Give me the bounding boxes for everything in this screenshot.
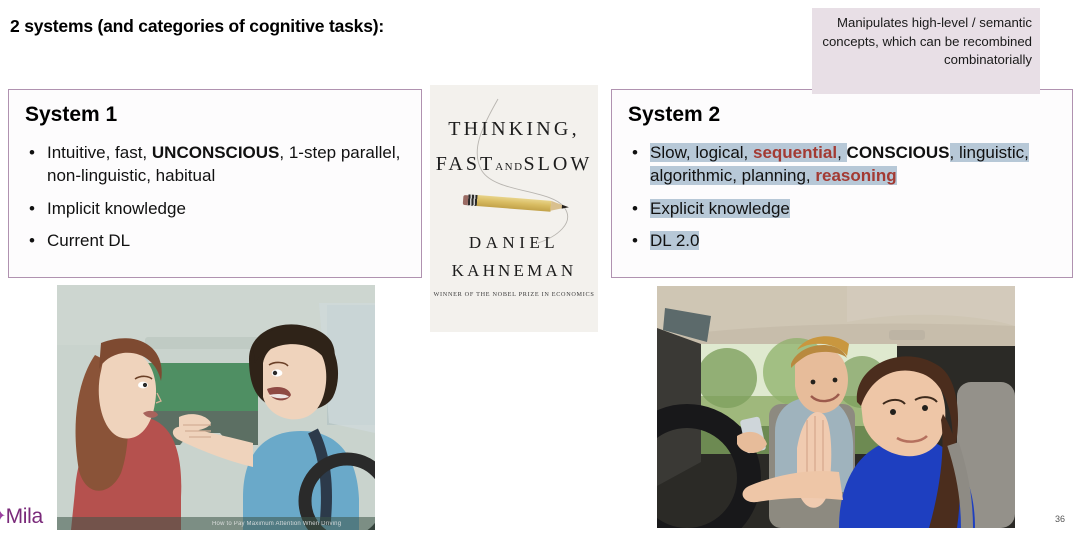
bullet-item: •Explicit knowledge	[628, 197, 1064, 220]
cartoon-caption: How to Pay Maximum Attention When Drivin…	[212, 521, 341, 527]
callout-note: Manipulates high-level / semantic concep…	[812, 8, 1040, 94]
book-cover-image: THINKING, FASTANDSLOW DANIEL KAHNEMAN WI…	[430, 85, 598, 332]
bullet-text-segment: Explicit knowledge	[650, 199, 790, 218]
bullet-marker: •	[632, 197, 638, 220]
system-2-bullet-list: •Slow, logical, sequential, CONSCIOUS, l…	[628, 141, 1064, 262]
bullet-text-segment: ,	[950, 143, 959, 162]
bullet-marker: •	[29, 141, 35, 164]
bullet-marker: •	[632, 229, 638, 252]
bullet-marker: •	[29, 229, 35, 252]
bullet-item: •Implicit knowledge	[25, 197, 413, 220]
bullet-item: •Intuitive, fast, UNCONSCIOUS, 1-step pa…	[25, 141, 413, 188]
bullet-text-segment: Current DL	[47, 231, 130, 250]
bullet-text-segment: CONSCIOUS	[847, 143, 950, 162]
bullet-text-segment: UNCONSCIOUS	[152, 143, 280, 162]
book-title-slow: SLOW	[524, 153, 593, 175]
book-author-line-1: DANIEL	[430, 233, 598, 253]
bullet-item: •DL 2.0	[628, 229, 1064, 252]
bullet-text-segment: DL 2.0	[650, 231, 699, 250]
slide-canvas: 2 systems (and categories of cognitive t…	[0, 0, 1080, 538]
system-1-heading: System 1	[25, 103, 117, 127]
driving-photo	[657, 286, 1015, 528]
system-2-panel: System 2 •Slow, logical, sequential, CON…	[611, 89, 1073, 278]
book-author-line-2: KAHNEMAN	[430, 261, 598, 281]
book-award-text: WINNER OF THE NOBEL PRIZE IN ECONOMICS	[430, 291, 598, 298]
book-title-fast: FAST	[436, 153, 495, 175]
bullet-text-segment: Implicit knowledge	[47, 199, 186, 218]
mila-logo: ✦Mila	[0, 505, 43, 529]
book-title-and: AND	[495, 161, 523, 173]
bullet-marker: •	[29, 197, 35, 220]
bullet-text-segment: Slow, logical,	[650, 143, 753, 162]
cartoon-graphic	[57, 285, 375, 530]
bullet-item: •Current DL	[25, 229, 413, 252]
page-number: 36	[1055, 514, 1065, 524]
system-1-bullet-list: •Intuitive, fast, UNCONSCIOUS, 1-step pa…	[25, 141, 413, 262]
cartoon-illustration: How to Pay Maximum Attention When Drivin…	[57, 285, 375, 530]
bullet-text-segment: ,	[837, 143, 846, 162]
book-title-line-2: FASTANDSLOW	[430, 153, 598, 176]
bullet-text-segment: reasoning	[815, 166, 896, 185]
mila-logo-text: Mila	[6, 505, 43, 528]
bullet-marker: •	[632, 141, 638, 164]
system-1-panel: System 1 •Intuitive, fast, UNCONSCIOUS, …	[8, 89, 422, 278]
page-title: 2 systems (and categories of cognitive t…	[10, 16, 384, 37]
driving-photo-graphic	[657, 286, 1015, 528]
bullet-item: •Slow, logical, sequential, CONSCIOUS, l…	[628, 141, 1064, 188]
system-2-heading: System 2	[628, 103, 720, 127]
book-title-line-1: THINKING,	[430, 118, 598, 141]
bullet-text-segment: sequential	[753, 143, 837, 162]
bullet-text-segment: Intuitive, fast,	[47, 143, 152, 162]
